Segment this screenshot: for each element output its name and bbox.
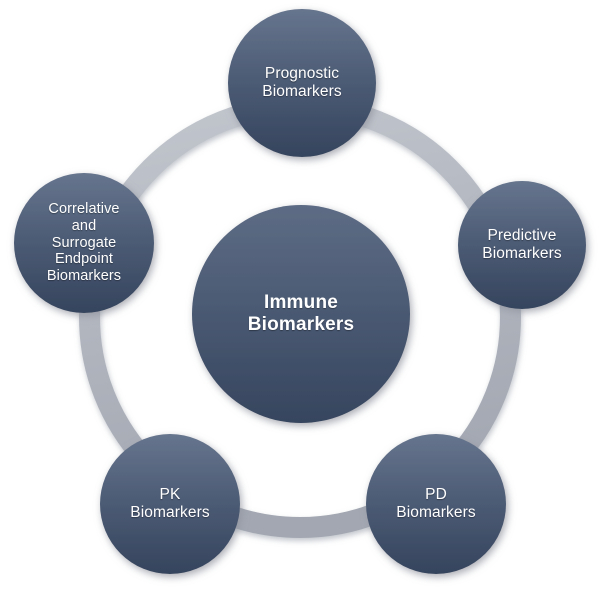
node-hub-circle[interactable] bbox=[192, 205, 410, 423]
biomarker-cycle-diagram bbox=[0, 0, 606, 593]
node-correlative-circle[interactable] bbox=[14, 173, 154, 313]
node-prognostic-circle[interactable] bbox=[228, 9, 376, 157]
node-pd-circle[interactable] bbox=[366, 434, 506, 574]
diagram-canvas: Immune Biomarkers Prognostic Biomarkers … bbox=[0, 0, 606, 593]
node-pk-circle[interactable] bbox=[100, 434, 240, 574]
node-predictive-circle[interactable] bbox=[458, 181, 586, 309]
